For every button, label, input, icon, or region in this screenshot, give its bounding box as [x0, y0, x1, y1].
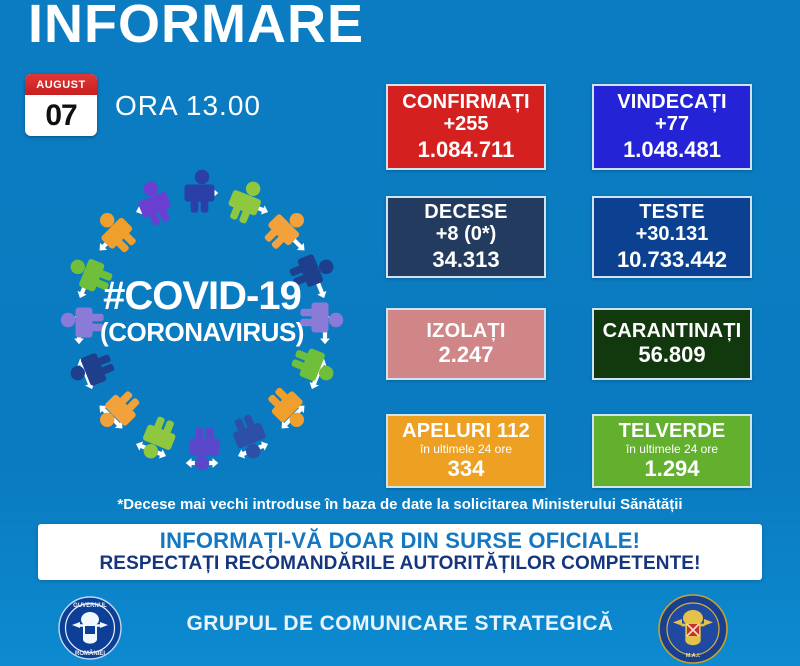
banner-line-2: RESPECTAȚI RECOMANDĂRILE AUTORITĂȚILOR C… [99, 553, 700, 575]
informare-poster: INFORMARE AUGUST 07 ORA 13.00 [0, 0, 800, 666]
stat-box-teste[interactable]: TESTE +30.131 10.733.442 [592, 196, 752, 278]
people-circle-icon: #COVID-19 (CORONAVIRUS) [22, 158, 382, 498]
stat-sublabel: în ultimele 24 ore [420, 443, 512, 456]
stat-total: 1.294 [644, 456, 699, 482]
people-circle-svg [22, 158, 382, 498]
stat-box-decese[interactable]: DECESE +8 (0*) 34.313 [386, 196, 546, 278]
footnote: *Decese mai vechi introduse în baza de d… [0, 496, 800, 513]
stat-total: 1.048.481 [623, 137, 721, 163]
page-title: INFORMARE [28, 0, 364, 54]
stat-sublabel: în ultimele 24 ore [626, 443, 718, 456]
stat-total: 34.313 [432, 247, 499, 273]
stat-label: TESTE [639, 201, 704, 223]
stat-total: 334 [448, 456, 485, 482]
hour-label: ORA 13.00 [115, 90, 261, 122]
stat-label: IZOLAȚI [426, 320, 505, 342]
stat-box-carantinati[interactable]: CARANTINAȚI 56.809 [592, 308, 752, 380]
stat-label: CARANTINAȚI [603, 320, 742, 342]
banner-line-1: INFORMAȚI-VĂ DOAR DIN SURSE OFICIALE! [160, 529, 640, 554]
calendar-month: AUGUST [25, 74, 97, 95]
svg-text:ROMÂNIEI: ROMÂNIEI [75, 650, 105, 657]
people-group [61, 170, 343, 470]
stat-label: CONFIRMAȚI [402, 91, 530, 113]
stat-total: 1.084.711 [418, 137, 515, 163]
stat-total: 10.733.442 [617, 247, 727, 273]
stat-delta: +30.131 [636, 223, 709, 247]
stat-box-izolati[interactable]: IZOLAȚI 2.247 [386, 308, 546, 380]
stat-box-vindecati[interactable]: VINDECAȚI +77 1.048.481 [592, 84, 752, 170]
calendar-icon: AUGUST 07 [25, 74, 97, 136]
calendar-day: 07 [25, 95, 97, 136]
stat-box-apeluri-112[interactable]: APELURI 112 în ultimele 24 ore 334 [386, 414, 546, 488]
stat-label: VINDECAȚI [617, 91, 727, 113]
stat-label: DECESE [424, 201, 507, 223]
stat-delta: +255 [443, 113, 488, 137]
svg-text:M.A.I.: M.A.I. [686, 653, 701, 659]
stat-total: 2.247 [438, 342, 493, 368]
stat-label: APELURI 112 [402, 420, 530, 442]
stat-label: TELVERDE [619, 420, 726, 442]
stat-delta: +8 (0*) [436, 223, 497, 247]
stat-delta: +77 [655, 113, 689, 137]
official-sources-banner: INFORMAȚI-VĂ DOAR DIN SURSE OFICIALE! RE… [38, 524, 762, 580]
stat-box-telverde[interactable]: TELVERDE în ultimele 24 ore 1.294 [592, 414, 752, 488]
footer-organization: GRUPUL DE COMUNICARE STRATEGICĂ [0, 612, 800, 636]
stat-box-confirmati[interactable]: CONFIRMAȚI +255 1.084.711 [386, 84, 546, 170]
stat-total: 56.809 [638, 342, 705, 368]
svg-text:GUVERNUL: GUVERNUL [73, 603, 107, 609]
